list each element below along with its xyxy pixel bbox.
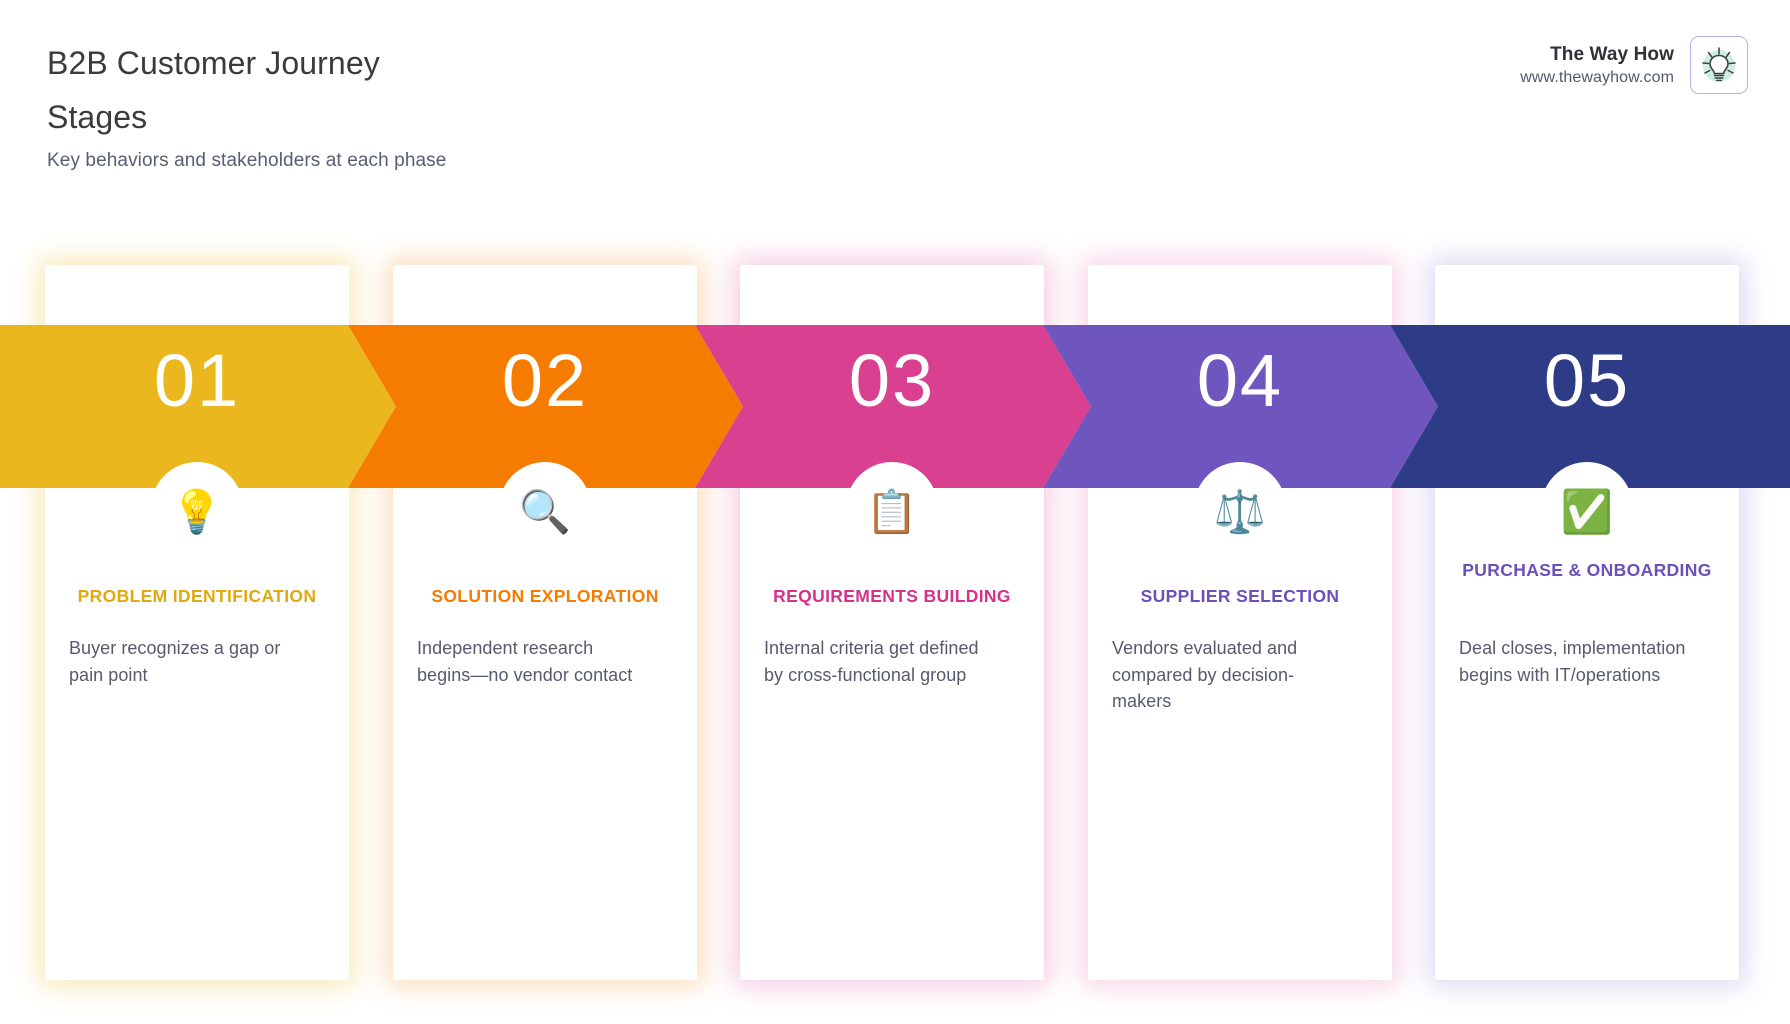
brand-logo [1690,36,1748,94]
brand-block: The Way How www.thewayhow.com [1520,36,1748,94]
stage-card-inner: ✅PURCHASE & ONBOARDINGDeal closes, imple… [1435,265,1739,980]
page-header: B2B Customer Journey Stages Key behavior… [0,0,1790,230]
stage-description: Deal closes, implementation begins with … [1459,635,1691,688]
balance-scales-icon: ⚖️ [1088,487,1392,537]
page-title-line1: B2B Customer Journey [47,45,380,81]
page-title: B2B Customer Journey Stages [47,36,687,144]
lightbulb-icon [1696,42,1742,88]
stage-card[interactable]: ⚖️SUPPLIER SELECTIONVendors evaluated an… [1088,265,1392,980]
stage-title: SOLUTION EXPLORATION [413,583,677,609]
stage-title: SUPPLIER SELECTION [1108,583,1372,609]
stage-card[interactable]: 🔍SOLUTION EXPLORATIONIndependent researc… [393,265,697,980]
stage-description: Internal criteria get defined by cross-f… [764,635,996,688]
stage-card-inner: 🔍SOLUTION EXPLORATIONIndependent researc… [393,265,697,980]
clipboard-icon: 📋 [740,487,1044,537]
stage-card-inner: 💡PROBLEM IDENTIFICATIONBuyer recognizes … [45,265,349,980]
green-check-mark-icon: ✅ [1435,487,1739,537]
lightbulb-icon: 💡 [45,487,349,537]
stage-description: Independent research begins—no vendor co… [417,635,649,688]
page-title-line2: Stages [47,99,147,135]
magnifying-glass-icon: 🔍 [393,487,697,537]
page-subtitle: Key behaviors and stakeholders at each p… [47,150,446,172]
stage-card[interactable]: 💡PROBLEM IDENTIFICATIONBuyer recognizes … [45,265,349,980]
stage-cards-row: 💡PROBLEM IDENTIFICATIONBuyer recognizes … [0,265,1790,985]
brand-text: The Way How www.thewayhow.com [1520,42,1674,88]
stage-card[interactable]: 📋REQUIREMENTS BUILDINGInternal criteria … [740,265,1044,980]
stage-card[interactable]: ✅PURCHASE & ONBOARDINGDeal closes, imple… [1435,265,1739,980]
stage-card-inner: 📋REQUIREMENTS BUILDINGInternal criteria … [740,265,1044,980]
stage-card-inner: ⚖️SUPPLIER SELECTIONVendors evaluated an… [1088,265,1392,980]
stage-title: PURCHASE & ONBOARDING [1455,557,1719,583]
stage-description: Buyer recognizes a gap or pain point [69,635,301,688]
stage-title: PROBLEM IDENTIFICATION [65,583,329,609]
brand-name: The Way How [1520,42,1674,67]
brand-url: www.thewayhow.com [1520,67,1674,88]
stage-description: Vendors evaluated and compared by decisi… [1112,635,1344,715]
stage-title: REQUIREMENTS BUILDING [760,583,1024,609]
